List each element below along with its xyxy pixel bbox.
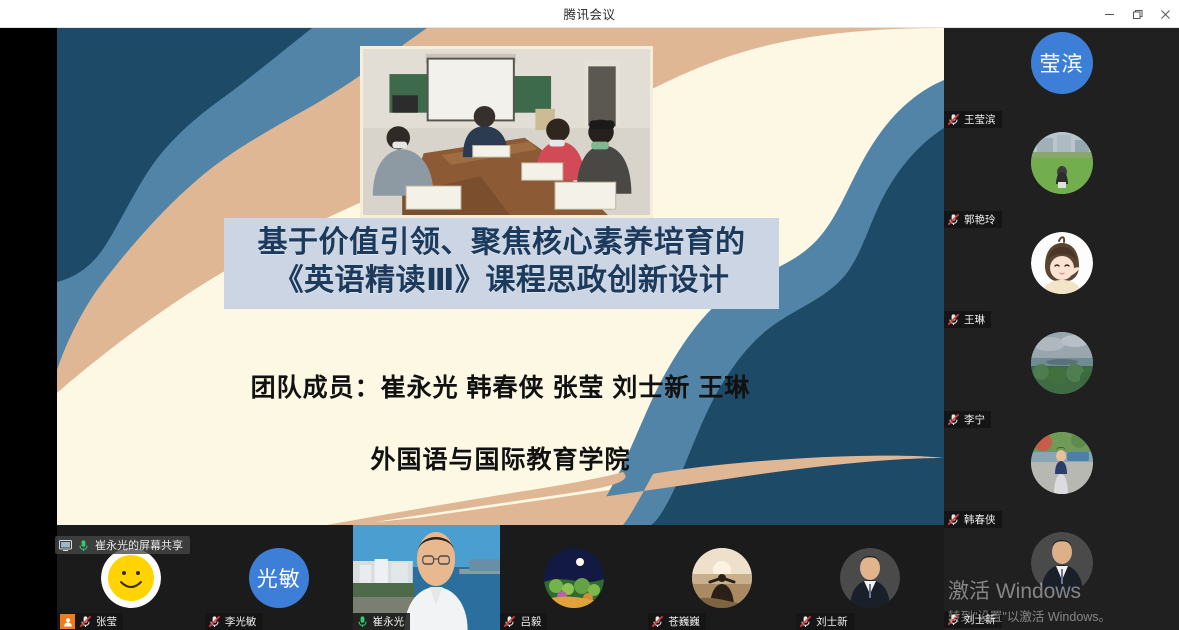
avatar xyxy=(101,548,161,608)
mic-muted-icon xyxy=(208,615,221,628)
name-chip: 王琳 xyxy=(944,311,991,328)
avatar xyxy=(1031,532,1093,594)
name-chip: 李光敏 xyxy=(205,613,263,630)
avatar xyxy=(692,548,752,608)
name-chip: 王莹滨 xyxy=(944,111,1002,128)
sidebar-tile-hanchunxia[interactable]: 韩春侠 xyxy=(944,428,1179,528)
filmstrip-tile-cuiyongguang[interactable]: 崔永光 xyxy=(353,525,501,630)
anime-girl-avatar xyxy=(1031,232,1093,294)
minimize-icon xyxy=(1104,9,1115,20)
avatar xyxy=(840,548,900,608)
avatar xyxy=(1031,432,1093,494)
name-chip: 韩春侠 xyxy=(944,511,1002,528)
participant-name: 吕毅 xyxy=(520,614,541,629)
participant-name: 王莹滨 xyxy=(964,112,996,127)
window-controls xyxy=(1095,0,1179,28)
shared-screen-area[interactable]: 基于价值引领、聚焦核心素养培育的 《英语精读Ⅲ》课程思政创新设计 团队成员：崔永… xyxy=(57,28,944,525)
slide-title-line-1: 基于价值引领、聚焦核心素养培育的 xyxy=(234,224,769,262)
monitor-icon xyxy=(59,540,72,551)
avatar: 光敏 xyxy=(249,548,309,608)
mic-on-icon xyxy=(356,615,369,628)
name-chip: 苍巍巍 xyxy=(648,613,706,630)
participant-name: 刘士新 xyxy=(964,612,996,627)
lake-landscape-photo xyxy=(1031,332,1093,394)
avatar: 莹滨 xyxy=(1031,32,1093,94)
participant-name: 郭艳玲 xyxy=(964,212,996,227)
slide-organization: 外国语与国际教育学院 xyxy=(57,440,944,476)
screen-share-label-text: 崔永光的屏幕共享 xyxy=(95,537,183,553)
participant-sidebar: 莹滨 王莹滨 xyxy=(944,28,1179,630)
filmstrip-tile-lvyi[interactable]: 吕毅 xyxy=(500,525,648,630)
participant-name: 张莹 xyxy=(96,614,117,629)
sidebar-tile-liushixin[interactable]: 刘士新 xyxy=(944,528,1179,628)
presentation-slide: 基于价值引领、聚焦核心素养培育的 《英语精读Ⅲ》课程思政创新设计 团队成员：崔永… xyxy=(57,28,944,525)
name-chip: 张莹 xyxy=(57,613,123,630)
participant-filmstrip: 张莹 光敏 李光敏 xyxy=(57,525,944,630)
participant-name: 刘士新 xyxy=(816,614,848,629)
slide-team-members: 团队成员：崔永光 韩春侠 张莹 刘士新 王琳 xyxy=(57,368,944,404)
man-in-suit-photo xyxy=(1031,532,1093,594)
man-in-suit-photo xyxy=(840,548,900,608)
sunset-person-photo xyxy=(692,548,752,608)
sidebar-tile-wanglin[interactable]: 王琳 xyxy=(944,228,1179,328)
mic-on-icon xyxy=(77,539,90,552)
filmstrip-tile-cangweiwei[interactable]: 苍巍巍 xyxy=(648,525,796,630)
avatar-initials: 光敏 xyxy=(257,563,301,593)
avatar xyxy=(1031,232,1093,294)
name-chip: 崔永光 xyxy=(353,613,411,630)
mic-muted-icon xyxy=(947,413,960,426)
night-landscape-photo xyxy=(544,548,604,608)
avatar xyxy=(544,548,604,608)
participant-name: 王琳 xyxy=(964,312,985,327)
participant-name: 苍巍巍 xyxy=(668,614,700,629)
avatar xyxy=(1031,332,1093,394)
name-chip: 吕毅 xyxy=(500,613,547,630)
avatar xyxy=(1031,132,1093,194)
avatar-initials: 莹滨 xyxy=(1040,48,1084,78)
slide-title: 基于价值引领、聚焦核心素养培育的 《英语精读Ⅲ》课程思政创新设计 xyxy=(224,218,779,309)
person-on-grass-photo xyxy=(1031,132,1093,194)
left-gutter xyxy=(0,28,57,630)
sidebar-tile-lining[interactable]: 李宁 xyxy=(944,328,1179,428)
name-chip: 郭艳玲 xyxy=(944,211,1002,228)
filmstrip-tile-liushixin[interactable]: 刘士新 xyxy=(796,525,944,630)
slide-title-line-2: 《英语精读Ⅲ》课程思政创新设计 xyxy=(234,262,769,300)
yellow-smiley-avatar xyxy=(101,548,161,608)
classroom-meeting-photo xyxy=(363,49,650,215)
sidebar-tile-wangyingbin[interactable]: 莹滨 王莹滨 xyxy=(944,28,1179,128)
mic-muted-icon xyxy=(503,615,516,628)
close-icon xyxy=(1160,9,1171,20)
filmstrip-tile-liguangmin[interactable]: 光敏 李光敏 xyxy=(205,525,353,630)
screen-share-label: 崔永光的屏幕共享 xyxy=(55,536,190,554)
participant-name: 李光敏 xyxy=(225,614,257,629)
host-badge-icon xyxy=(60,614,75,629)
maximize-button[interactable] xyxy=(1123,0,1151,28)
slide-photo xyxy=(360,46,653,218)
woman-outdoors-photo xyxy=(1031,432,1093,494)
sidebar-tile-guoyanling[interactable]: 郭艳玲 xyxy=(944,128,1179,228)
meeting-workspace: 基于价值引领、聚焦核心素养培育的 《英语精读Ⅲ》课程思政创新设计 团队成员：崔永… xyxy=(0,28,1179,630)
mic-muted-icon xyxy=(947,513,960,526)
mic-muted-icon xyxy=(947,113,960,126)
window-title-bar: 腾讯会议 xyxy=(0,0,1179,28)
mic-muted-icon xyxy=(79,615,92,628)
restore-icon xyxy=(1132,9,1143,20)
close-button[interactable] xyxy=(1151,0,1179,28)
name-chip: 刘士新 xyxy=(944,611,1002,628)
participant-name: 崔永光 xyxy=(373,614,405,629)
mic-muted-icon xyxy=(799,615,812,628)
mic-muted-icon xyxy=(651,615,664,628)
mic-muted-icon xyxy=(947,613,960,626)
name-chip: 李宁 xyxy=(944,411,991,428)
participant-name: 韩春侠 xyxy=(964,512,996,527)
minimize-button[interactable] xyxy=(1095,0,1123,28)
app-title: 腾讯会议 xyxy=(563,4,615,23)
name-chip: 刘士新 xyxy=(796,613,854,630)
participant-name: 李宁 xyxy=(964,412,985,427)
mic-muted-icon xyxy=(947,213,960,226)
mic-muted-icon xyxy=(947,313,960,326)
